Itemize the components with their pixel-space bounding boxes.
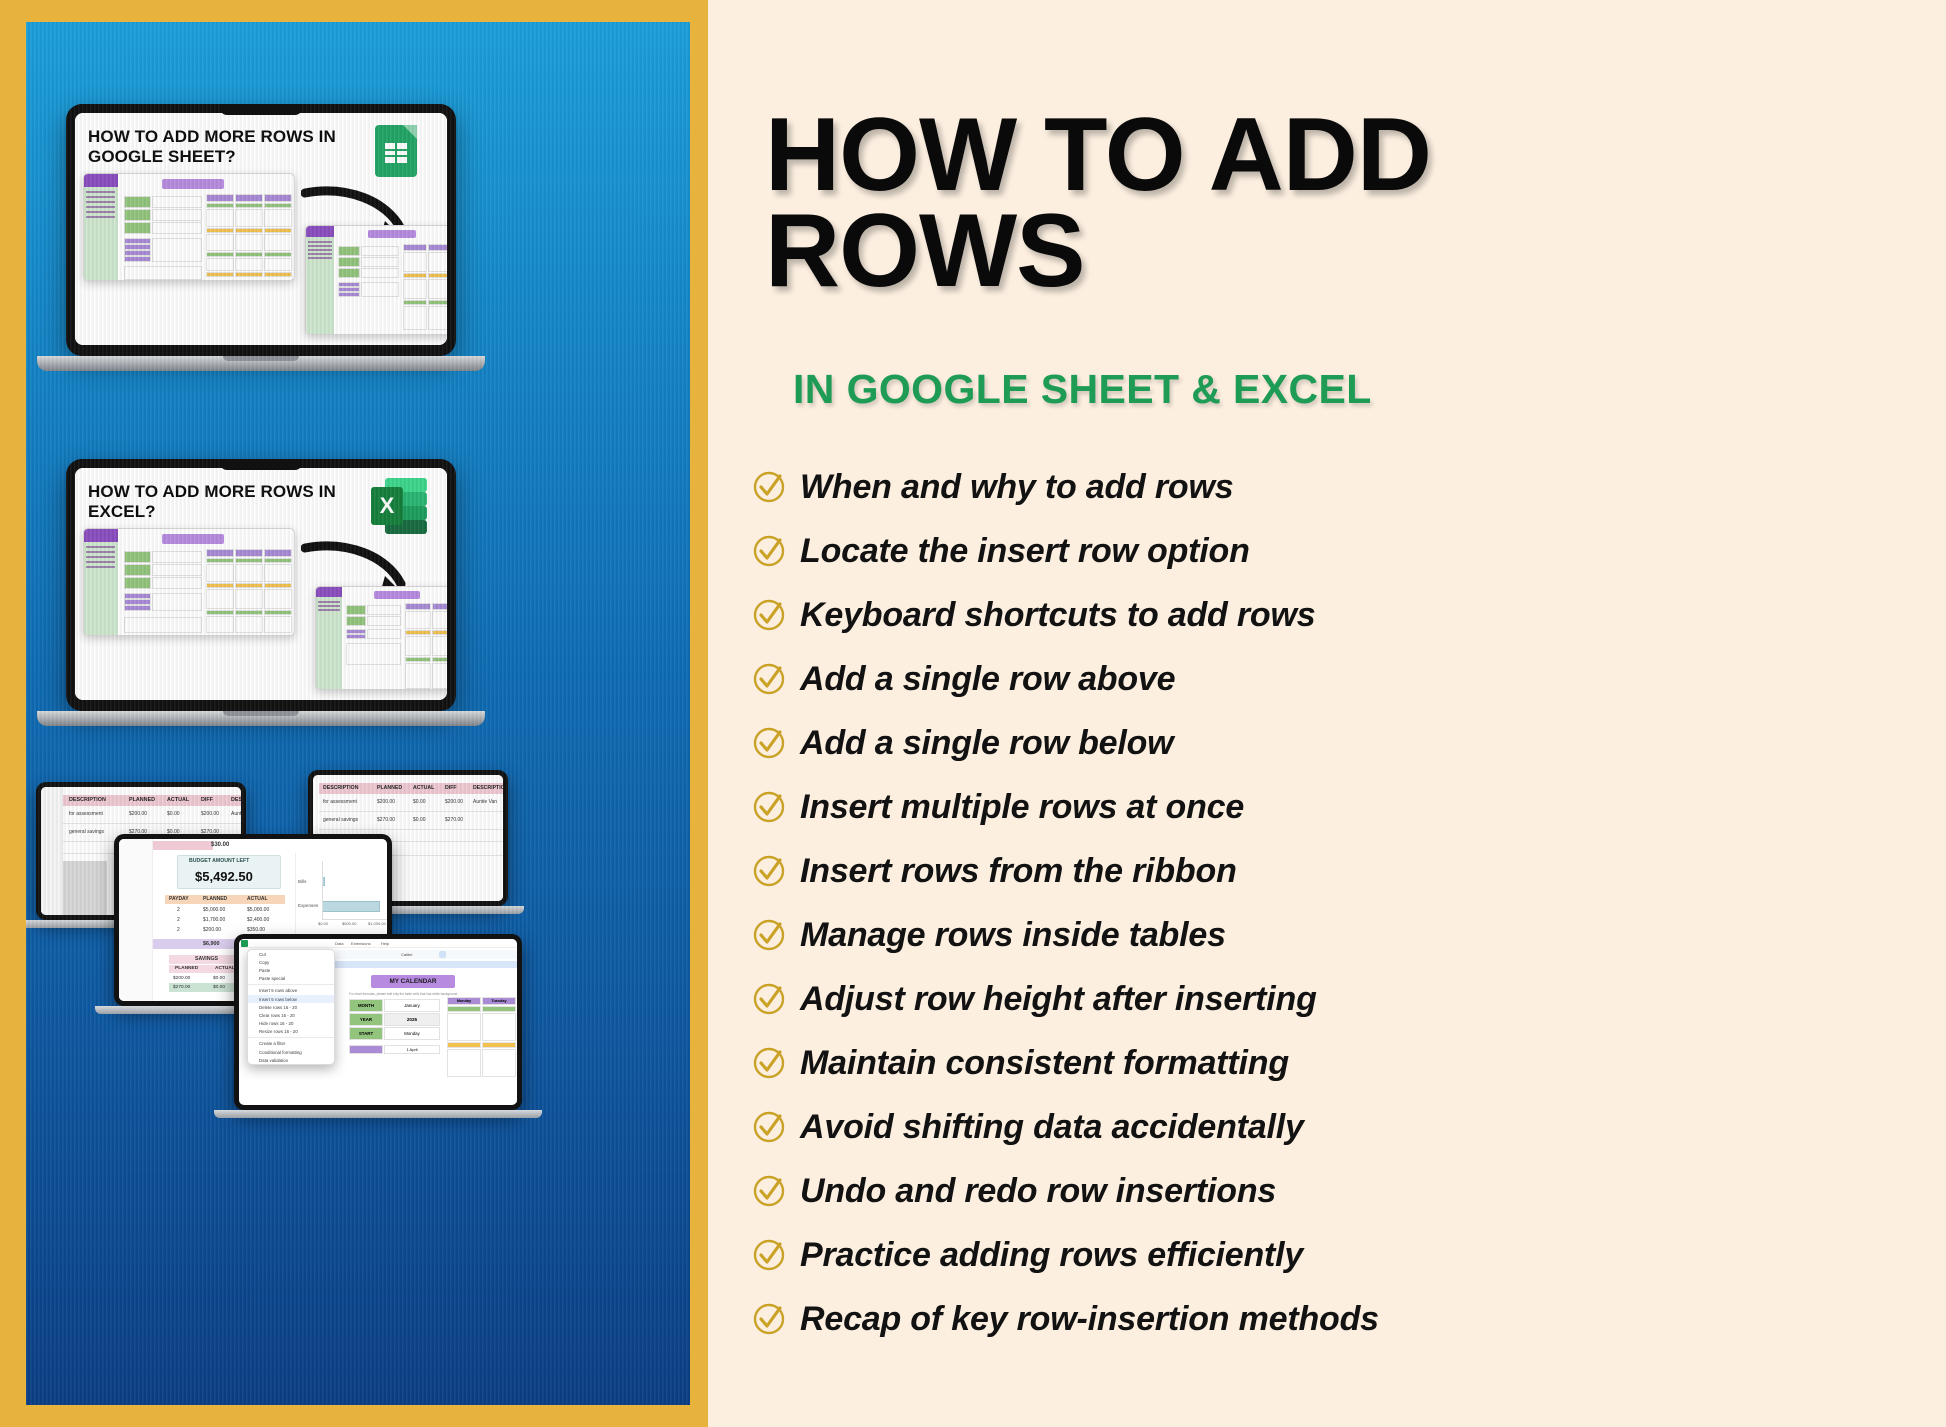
cal-value-start: Monday [404,1031,420,1036]
ctx-conditional-formatting[interactable]: Conditional formatting [248,1048,334,1056]
list-item: Manage rows inside tables [738,903,1618,967]
page-title: HOW TO ADD ROWS [765,108,1525,299]
budget-amount-left-value: $5,492.50 [195,869,253,884]
list-item-label: Practice adding rows efficiently [800,1236,1303,1275]
slide-google-sheet: HOW TO ADD MORE ROWS IN GOOGLE SHEET? [75,113,447,345]
savings-title: SAVINGS [195,956,218,962]
headline-line-1: HOW TO ADD [765,108,1525,204]
budget-row1-diff: $200.00 [201,811,219,817]
list-item: Add a single row below [738,711,1618,775]
budget-row2-desc: general savings [69,829,104,835]
list-item: Insert rows from the ribbon [738,839,1618,903]
chart-tick-0: $0.00 [318,921,328,926]
budget2-col-description2: DESCRIPTION [473,785,503,791]
chart-label-expenses: Expenses [298,903,318,908]
payday-col-planned: PLANNED [203,896,227,902]
ctx-create-filter[interactable]: Create a filter [248,1040,334,1048]
savings-r2-c1: $270.00 [173,985,190,990]
ctx-resize-rows[interactable]: Resize rows 16 - 20 [248,1028,334,1036]
budget-col-description: DESCRIPTION [69,797,106,803]
menu-data: Data [335,941,343,946]
check-circle-icon [738,1302,800,1336]
payday-col-actual: ACTUAL [247,896,268,902]
menu-extensions: Extensions [351,941,371,946]
feature-list: When and why to add rows Locate the inse… [738,455,1618,1351]
cal-weekday-monday: Monday [457,999,471,1003]
payday-r1-c3: $5,000.00 [247,907,269,913]
ctx-insert-rows-below[interactable]: Insert 5 rows below [248,995,334,1003]
menu-help: Help [381,941,389,946]
excel-x-letter: X [371,487,403,525]
cal-label-month: MONTH [358,1003,374,1008]
calendar-title: MY CALENDAR [389,978,436,985]
subtitle: IN GOOGLE SHEET & EXCEL [793,366,1372,413]
budget-bar-chart: Bills Expenses $0.00 $500.00 $1,000.00 [295,853,387,943]
payday-col-payday: PAYDAY [169,896,189,902]
list-item-label: Locate the insert row option [800,532,1250,571]
list-item-label: Insert multiple rows at once [800,788,1244,827]
savings-col-planned: PLANNED [175,966,198,971]
list-item-label: Add a single row below [800,724,1173,763]
cal-value-year: 2025 [407,1017,417,1022]
list-item: When and why to add rows [738,455,1618,519]
budget2-row2-diff: $270.00 [445,817,463,823]
sheets-app-icon-small [241,940,248,947]
check-circle-icon [738,1110,800,1144]
calendar-sheet: MY CALENDAR For chart formulas, please e… [347,973,517,1103]
budget2-row2-desc: general savings [323,817,358,823]
payday-r2-c1: 2 [177,917,180,923]
budget-col-description2: DESCRIPTION [231,797,241,803]
list-item-label: Recap of key row-insertion methods [800,1300,1379,1339]
payday-r3-c1: 2 [177,927,180,933]
slide1-title-line2: GOOGLE SHEET? [88,147,338,166]
laptop-notch [220,459,302,470]
list-item: Maintain consistent formatting [738,1031,1618,1095]
ctx-data-validation[interactable]: Data validation [248,1056,334,1064]
list-item: Locate the insert row option [738,519,1618,583]
list-item-label: Adjust row height after inserting [800,980,1317,1019]
budget-amount-left-label: BUDGET AMOUNT LEFT [189,858,249,864]
list-item-label: Add a single row above [800,660,1175,699]
google-sheets-icon [375,125,417,177]
laptop-base [37,711,485,726]
budget2-row1-diff: $200.00 [445,799,463,805]
budget2-col-diff: DIFF [445,785,457,791]
ctx-paste-special[interactable]: Paste special [248,975,334,983]
excel-icon: X [371,478,427,534]
budget2-col-description: DESCRIPTION [323,785,358,791]
check-circle-icon [738,534,800,568]
cal-label-start: START [359,1031,373,1036]
left-showcase-panel: HOW TO ADD MORE ROWS IN GOOGLE SHEET? [0,0,708,1427]
slide2-title-line2: EXCEL? [88,502,338,521]
formatting-toolbar [335,950,517,959]
laptop-mockup-context-menu: Data Extensions Help Calibri Cut Copy Pa… [234,934,524,1118]
savings-r1-c1: $200.00 [173,976,190,981]
savings-col-actual: ACTUAL [215,966,235,971]
spreadsheet-preview-small [305,225,447,335]
list-item-label: Keyboard shortcuts to add rows [800,596,1315,635]
budget-col-planned: PLANNED [129,797,155,803]
budget-row1-planned: $200.00 [129,811,147,817]
budget2-col-planned: PLANNED [377,785,402,791]
ctx-insert-rows-above[interactable]: Insert 5 rows above [248,987,334,995]
list-item: Keyboard shortcuts to add rows [738,583,1618,647]
chart-tick-2: $1,000.00 [368,921,386,926]
check-circle-icon [738,790,800,824]
savings-r2-c2: $0.00 [213,985,225,990]
cal-label-year: YEAR [360,1017,372,1022]
check-circle-icon [738,982,800,1016]
laptop-mockup-google-sheet: HOW TO ADD MORE ROWS IN GOOGLE SHEET? [66,104,486,371]
list-item-label: Manage rows inside tables [800,916,1226,955]
payday-r2-c2: $1,700.00 [203,917,225,923]
budget-row1-actual: $0.00 [167,811,180,817]
check-circle-icon [738,918,800,952]
budget-row1-desc: for assessment [69,811,103,817]
headline-line-2: ROWS [765,204,1525,300]
budget2-row1-desc: for assessment [323,799,357,805]
sheet-brand-badge [84,174,118,187]
payday-r1-c1: 2 [177,907,180,913]
check-circle-icon [738,470,800,504]
chart-tick-1: $500.00 [342,921,356,926]
check-circle-icon [738,598,800,632]
right-content-panel: HOW TO ADD ROWS IN GOOGLE SHEET & EXCEL … [708,0,1946,1427]
list-item: Avoid shifting data accidentally [738,1095,1618,1159]
ctx-copy[interactable]: Copy [248,958,334,966]
budget2-row2-actual: $0.00 [413,817,426,823]
slide1-title-line1: HOW TO ADD MORE ROWS IN [88,127,338,146]
laptop-base [214,1110,542,1118]
laptop-mockup-excel: HOW TO ADD MORE ROWS IN EXCEL? X [66,459,486,726]
laptop-base [37,356,485,371]
list-item-label: Maintain consistent formatting [800,1044,1289,1083]
toolbar-font-name: Calibri [401,952,412,957]
budget-col-diff: DIFF [201,797,213,803]
list-item-label: Undo and redo row insertions [800,1172,1276,1211]
ctx-paste[interactable]: Paste [248,966,334,974]
check-circle-icon [738,1046,800,1080]
savings-r1-c2: $0.00 [213,976,225,981]
budget2-row2-planned: $270.00 [377,817,395,823]
payday-r1-c2: $5,000.00 [203,907,225,913]
check-circle-icon [738,854,800,888]
budget2-col-actual: ACTUAL [413,785,434,791]
list-item-label: When and why to add rows [800,468,1233,507]
spreadsheet-preview-large [83,528,295,636]
ctx-hide-rows[interactable]: Hide rows 16 - 20 [248,1020,334,1028]
list-item: Undo and redo row insertions [738,1159,1618,1223]
check-circle-icon [738,726,800,760]
calendar-title-cell [162,179,224,189]
blue-gradient-stage: HOW TO ADD MORE ROWS IN GOOGLE SHEET? [26,22,690,1405]
slide2-title-line1: HOW TO ADD MORE ROWS IN [88,482,338,501]
budget2-row1-actual: $0.00 [413,799,426,805]
payday-r2-c3: $2,400.00 [247,917,269,923]
cal-value-month: January [404,1003,420,1008]
chart-label-bills: Bills [298,879,306,884]
budget-row1-desc2: Auntie Van [231,811,241,817]
spreadsheet-preview-small [315,586,447,690]
list-item: Practice adding rows efficiently [738,1223,1618,1287]
list-item: Insert multiple rows at once [738,775,1618,839]
ctx-clear-rows[interactable]: Clear rows 16 - 20 [248,1011,334,1019]
check-circle-icon [738,662,800,696]
list-item: Add a single row above [738,647,1618,711]
ctx-cut[interactable]: Cut [248,950,334,958]
payday-r3-c3: $350.00 [247,927,265,933]
slide-excel: HOW TO ADD MORE ROWS IN EXCEL? X [75,468,447,700]
check-circle-icon [738,1174,800,1208]
cal-weekday-tuesday: Tuesday [491,999,506,1003]
check-circle-icon [738,1238,800,1272]
budget-col-actual: ACTUAL [167,797,189,803]
spreadsheet-preview-large [83,173,295,281]
payday-total-planned: $6,900 [203,941,220,947]
list-item: Recap of key row-insertion methods [738,1287,1618,1351]
payday-r3-c2: $200.00 [203,927,221,933]
budget2-row1-desc2: Auntie Van [473,799,497,805]
laptop-notch [220,104,302,115]
ctx-delete-rows[interactable]: Delete rows 16 - 20 [248,1003,334,1011]
budget2-row1-planned: $200.00 [377,799,395,805]
list-item-label: Insert rows from the ribbon [800,852,1237,891]
context-menu[interactable]: Cut Copy Paste Paste special Insert 5 ro… [247,949,335,1065]
list-item: Adjust row height after inserting [738,967,1618,1031]
list-item-label: Avoid shifting data accidentally [800,1108,1304,1147]
